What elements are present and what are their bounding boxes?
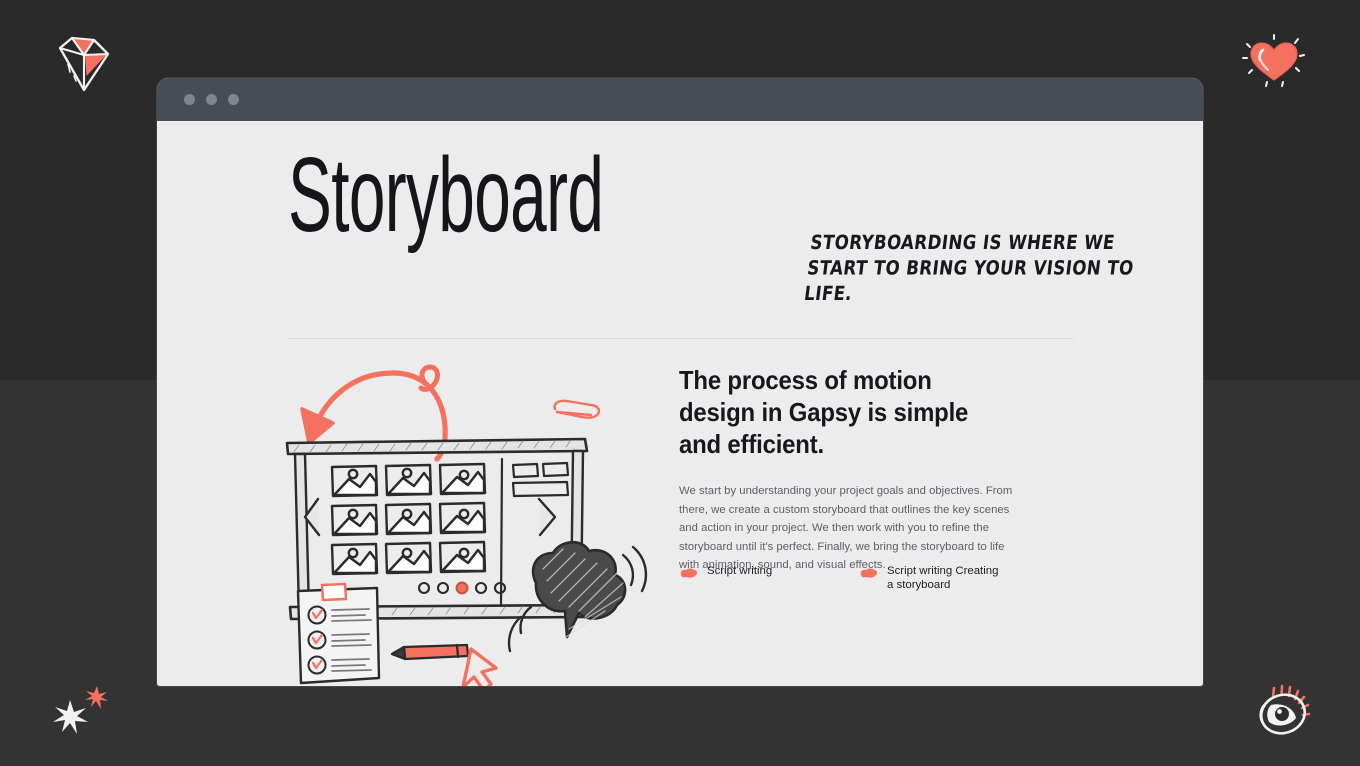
list-item: Script writing xyxy=(679,565,859,592)
window-content: Storyboard Storyboarding is where we sta… xyxy=(157,121,1203,686)
browser-window: Storyboard Storyboarding is where we sta… xyxy=(157,78,1203,686)
marker-blob-icon xyxy=(859,567,878,580)
gem-icon xyxy=(48,28,120,98)
marker-blob-icon xyxy=(679,567,698,580)
section-divider xyxy=(288,338,1074,339)
heart-icon xyxy=(1238,26,1310,96)
list-item-label: Script writing xyxy=(707,565,772,579)
feature-list: Script writing Script writing Creating a… xyxy=(679,565,1039,592)
header-row: Storyboard Storyboarding is where we sta… xyxy=(288,139,1203,289)
section-heading: The process of motion design in Gapsy is… xyxy=(679,364,1003,460)
sparkles-icon xyxy=(42,682,122,746)
section-body-text: We start by understanding your project g… xyxy=(679,482,1024,575)
eye-icon xyxy=(1246,678,1320,744)
text-column: The process of motion design in Gapsy is… xyxy=(679,364,1031,575)
minimize-dot-icon[interactable] xyxy=(206,94,217,105)
handwritten-note: Storyboarding is where we start to bring… xyxy=(803,231,1142,307)
close-dot-icon[interactable] xyxy=(184,94,195,105)
page-title: Storyboard xyxy=(288,139,603,251)
list-item: Script writing Creating a storyboard xyxy=(859,565,1039,592)
list-item-label: Script writing Creating a storyboard xyxy=(887,565,1007,592)
maximize-dot-icon[interactable] xyxy=(228,94,239,105)
storyboard-illustration xyxy=(285,361,653,686)
window-title-bar xyxy=(157,78,1203,121)
